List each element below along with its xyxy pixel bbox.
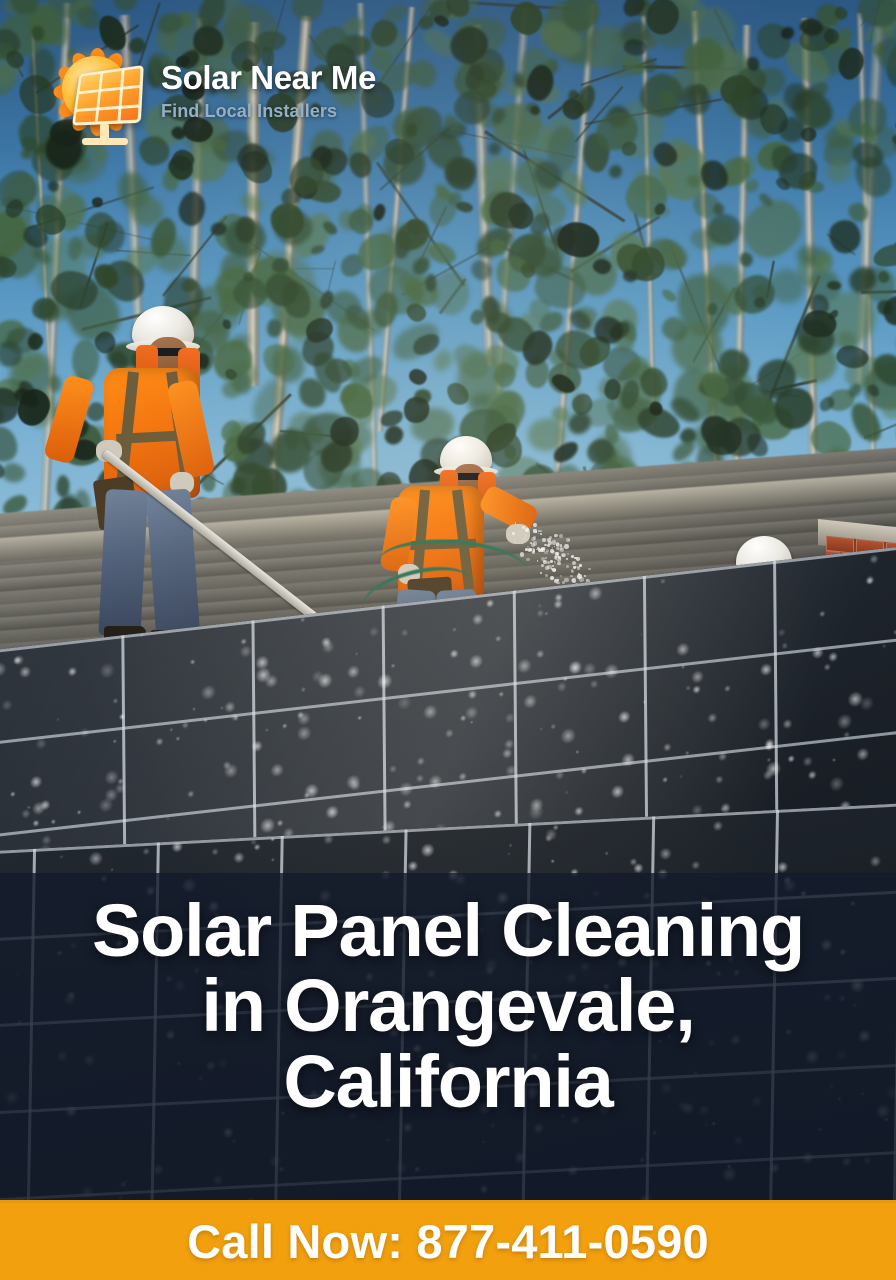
logo-panel — [72, 65, 144, 126]
call-now-label: Call Now: 877-411-0590 — [187, 1214, 709, 1269]
brand-tagline: Find Local Installers — [161, 102, 376, 120]
headline-line-3: California — [18, 1044, 878, 1119]
page-title: Solar Panel Cleaning in Orangevale, Cali… — [0, 893, 896, 1119]
headline-line-1: Solar Panel Cleaning — [18, 893, 878, 968]
call-now-bar[interactable]: Call Now: 877-411-0590 — [0, 1200, 896, 1280]
poster: Solar Near Me Find Local Installers Sola… — [0, 0, 896, 1280]
brand-name: Solar Near Me — [161, 61, 376, 94]
logo-panel-base — [82, 138, 128, 145]
sun-solar-panel-icon — [40, 40, 148, 140]
headline-line-2: in Orangevale, — [18, 968, 878, 1043]
brand-logo[interactable]: Solar Near Me Find Local Installers — [40, 40, 376, 140]
